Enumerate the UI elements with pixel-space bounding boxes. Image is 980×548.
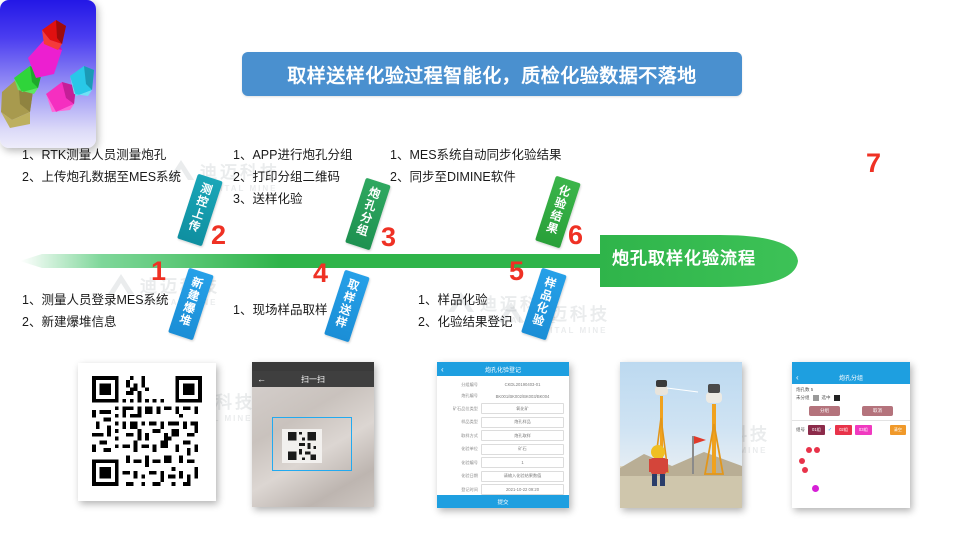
flow-arrow-label: 炮孔取样化验流程 — [612, 244, 756, 269]
form-label: 取样方式 — [442, 433, 481, 439]
form-label: 分组编号 — [442, 382, 481, 388]
block-model-thumbnail[interactable] — [0, 0, 96, 148]
step-1-line-1: 1、测量人员登录MES系统 — [22, 290, 169, 312]
thumbnail-grouping-screen[interactable]: ‹ 炮孔分组 炮孔数 5 未分组 选中 分组 取消 组号 01组 ✓ 02组 0… — [792, 362, 910, 508]
back-arrow-icon[interactable]: ‹ — [796, 373, 799, 382]
group-navbar: ‹ 炮孔分组 — [792, 370, 910, 384]
form-navbar-title: 炮孔化验登记 — [485, 365, 521, 374]
hole-dot[interactable] — [802, 467, 808, 473]
back-arrow-icon[interactable]: ← — [257, 374, 266, 384]
form-row[interactable]: 取样方式 炮孔取样 — [442, 430, 564, 441]
step-number-1: 1 — [151, 258, 166, 285]
step-1-line-2: 2、新建爆堆信息 — [22, 312, 169, 334]
step-number-6: 6 — [568, 222, 583, 249]
step-5-line-1: 1、样品化验 — [418, 290, 512, 312]
thumbnail-form-screen[interactable]: ‹ 炮孔化验登记 分组编号 CKDL20190403-01 炮孔编号 BK001… — [437, 362, 569, 508]
form-row[interactable]: 样品类型 炮孔样品 — [442, 417, 564, 428]
form-value: BK001/BK002/BK003/BK004 — [481, 392, 564, 401]
step-2-text: 1、RTK测量人员测量炮孔 2、上传炮孔数据至MES系统 — [22, 145, 181, 189]
form-value[interactable]: 炮孔样品 — [481, 417, 564, 428]
form-label: 化验单位 — [442, 446, 481, 452]
form-label: 登记时间 — [442, 487, 481, 493]
form-value[interactable]: 请输入化验结果数值 — [481, 471, 564, 482]
form-label: 矿石品位类型 — [442, 406, 481, 412]
hole-dot[interactable] — [812, 485, 819, 492]
qr-code-icon — [92, 375, 202, 487]
step-1-text: 1、测量人员登录MES系统 2、新建爆堆信息 — [22, 290, 169, 334]
form-row[interactable]: 化验日期 请输入化验结果数值 — [442, 471, 564, 482]
step-4-line-1: 1、现场样品取样 — [233, 300, 327, 322]
back-arrow-icon[interactable]: ‹ — [441, 365, 444, 374]
form-row[interactable]: 化验单位 矿石 — [442, 444, 564, 455]
group-navbar-title: 炮孔分组 — [839, 373, 863, 382]
form-navbar: ‹ 炮孔化验登记 — [437, 362, 569, 376]
thumbnail-scan-screen[interactable]: ← 扫一扫 — [252, 362, 374, 507]
step-3-text: 1、APP进行炮孔分组 2、打印分组二维码 3、送样化验 — [233, 145, 352, 211]
group-filter-row[interactable]: 未分组 选中 — [796, 395, 906, 401]
form-value[interactable]: 1 — [481, 457, 564, 468]
checkbox-ungrouped[interactable] — [813, 395, 819, 401]
step-5-line-2: 2、化验结果登记 — [418, 312, 512, 334]
checkbox-selected[interactable] — [834, 395, 840, 401]
scan-navbar-title: 扫一扫 — [301, 374, 325, 385]
group-filter-label-1: 未分组 — [796, 395, 810, 401]
step-number-5: 5 — [509, 258, 524, 285]
chip-group-02[interactable]: 02组 — [835, 425, 852, 435]
thumbnail-field-photo[interactable] — [620, 362, 742, 508]
form-value: CKDL20190403-01 — [481, 380, 564, 389]
group-hole-count: 炮孔数 5 — [796, 387, 906, 393]
form-value[interactable]: 2021-10-22 09:20 — [481, 484, 564, 495]
scan-camera-view[interactable] — [252, 387, 374, 507]
scan-status-bar — [252, 362, 374, 371]
step-6-text: 1、MES系统自动同步化验结果 2、同步至DIMINE软件 — [390, 145, 562, 189]
group-info: 炮孔数 5 未分组 选中 — [792, 384, 910, 403]
step-number-4: 4 — [313, 260, 328, 287]
step-number-3: 3 — [381, 224, 396, 251]
step-6-line-2: 2、同步至DIMINE软件 — [390, 167, 562, 189]
step-number-2: 2 — [211, 222, 226, 249]
step-5-text: 1、样品化验 2、化验结果登记 — [418, 290, 512, 334]
step-3-line-1: 1、APP进行炮孔分组 — [233, 145, 352, 167]
group-button[interactable]: 分组 — [809, 406, 840, 416]
check-icon: ✓ — [828, 427, 832, 433]
form-value[interactable]: 矿石 — [481, 444, 564, 455]
hole-dot[interactable] — [814, 447, 820, 453]
form-row: 炮孔编号 BK001/BK002/BK003/BK004 — [442, 392, 564, 401]
field-survey-illustration — [620, 362, 742, 508]
form-body: 分组编号 CKDL20190403-01 炮孔编号 BK001/BK002/BK… — [437, 376, 569, 508]
form-row: 分组编号 CKDL20190403-01 — [442, 380, 564, 389]
form-submit-button[interactable]: 提交 — [437, 495, 569, 508]
cancel-button[interactable]: 取消 — [862, 406, 893, 416]
page-title: 取样送样化验过程智能化，质检化验数据不落地 — [287, 61, 697, 88]
step-4-text: 1、现场样品取样 — [233, 300, 327, 322]
hole-dot[interactable] — [799, 458, 805, 464]
group-status-bar — [792, 362, 910, 370]
group-filter-label-2: 选中 — [822, 395, 831, 401]
chip-group-03[interactable]: 03组 — [855, 425, 872, 435]
form-label: 化验日期 — [442, 473, 481, 479]
group-chip-row: 组号 01组 ✓ 02组 03组 清空 — [792, 421, 910, 439]
form-row[interactable]: 登记时间 2021-10-22 09:20 — [442, 484, 564, 495]
form-value[interactable]: 炮孔取样 — [481, 430, 564, 441]
step-6-line-1: 1、MES系统自动同步化验结果 — [390, 145, 562, 167]
form-label: 炮孔编号 — [442, 393, 481, 399]
group-hole-plot[interactable] — [792, 439, 910, 501]
thumbnail-qr-code[interactable] — [78, 363, 216, 501]
scan-navbar: ← 扫一扫 — [252, 371, 374, 387]
form-row[interactable]: 化验编号 1 — [442, 457, 564, 468]
group-action-buttons: 分组 取消 — [792, 403, 910, 420]
group-chip-label: 组号 — [796, 427, 805, 433]
step-3-line-2: 2、打印分组二维码 — [233, 167, 352, 189]
step-2-line-2: 2、上传炮孔数据至MES系统 — [22, 167, 181, 189]
chip-clear[interactable]: 清空 — [890, 425, 906, 435]
scan-target-qr-icon — [282, 429, 322, 463]
step-number-7: 7 — [866, 148, 881, 179]
step-2-line-1: 1、RTK测量人员测量炮孔 — [22, 145, 181, 167]
hole-dot[interactable] — [806, 447, 812, 453]
form-label: 化验编号 — [442, 460, 481, 466]
chip-group-01[interactable]: 01组 — [808, 425, 825, 435]
page-title-banner: 取样送样化验过程智能化，质检化验数据不落地 — [242, 52, 742, 96]
step-3-line-3: 3、送样化验 — [233, 189, 352, 211]
form-row[interactable]: 矿石品位类型 氧化矿 — [442, 403, 564, 414]
form-value[interactable]: 氧化矿 — [481, 403, 564, 414]
form-label: 样品类型 — [442, 419, 481, 425]
